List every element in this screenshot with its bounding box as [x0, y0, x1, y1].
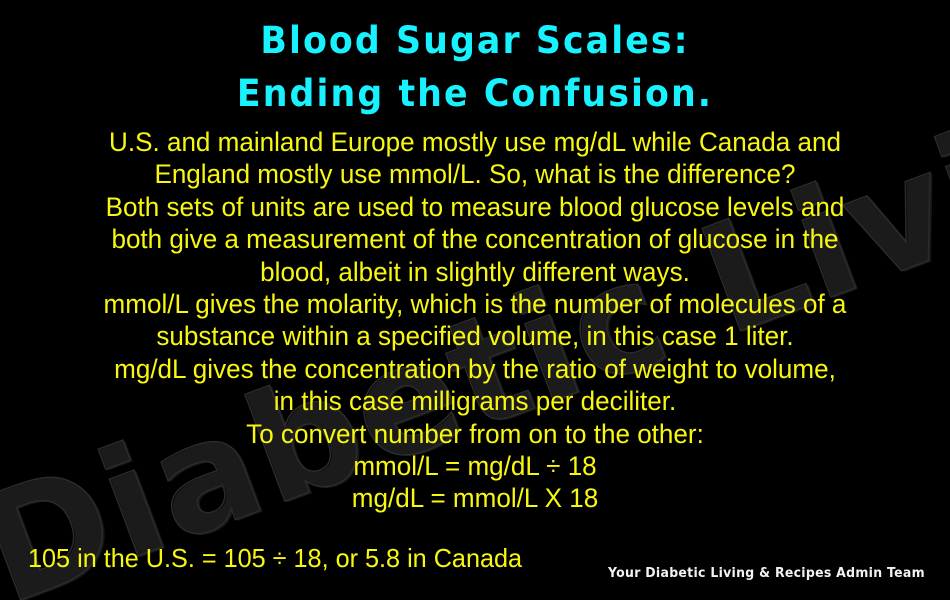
admin-team-signature: Your Diabetic Living & Recipes Admin Tea…	[608, 565, 925, 582]
page-title: Blood Sugar Scales: Ending the Confusion…	[0, 14, 950, 120]
worked-example: 105 in the U.S. = 105 ÷ 18, or 5.8 in Ca…	[28, 543, 522, 573]
body-line: blood, albeit in slightly different ways…	[17, 256, 934, 288]
body-line: both give a measurement of the concentra…	[17, 223, 934, 255]
body-line: substance within a specified volume, in …	[17, 320, 934, 352]
formula-mmol: mmol/L = mg/dL ÷ 18	[17, 450, 934, 482]
body-line: Both sets of units are used to measure b…	[17, 191, 934, 223]
body-line: To convert number from on to the other:	[17, 418, 934, 450]
body-line: mg/dL gives the concentration by the rat…	[17, 353, 934, 385]
body-line: in this case milligrams per deciliter.	[17, 385, 934, 417]
body-line: England mostly use mmol/L. So, what is t…	[17, 158, 934, 190]
body-text: U.S. and mainland Europe mostly use mg/d…	[0, 126, 950, 515]
formula-mgdl: mg/dL = mmol/L X 18	[17, 482, 934, 514]
body-line: mmol/L gives the molarity, which is the …	[17, 288, 934, 320]
infographic-canvas: Diabetic Living & Recipes Blood Sugar Sc…	[0, 0, 950, 600]
body-line: U.S. and mainland Europe mostly use mg/d…	[17, 126, 934, 158]
title-line-1: Blood Sugar Scales:	[29, 14, 922, 67]
title-line-2: Ending the Confusion.	[29, 67, 922, 120]
